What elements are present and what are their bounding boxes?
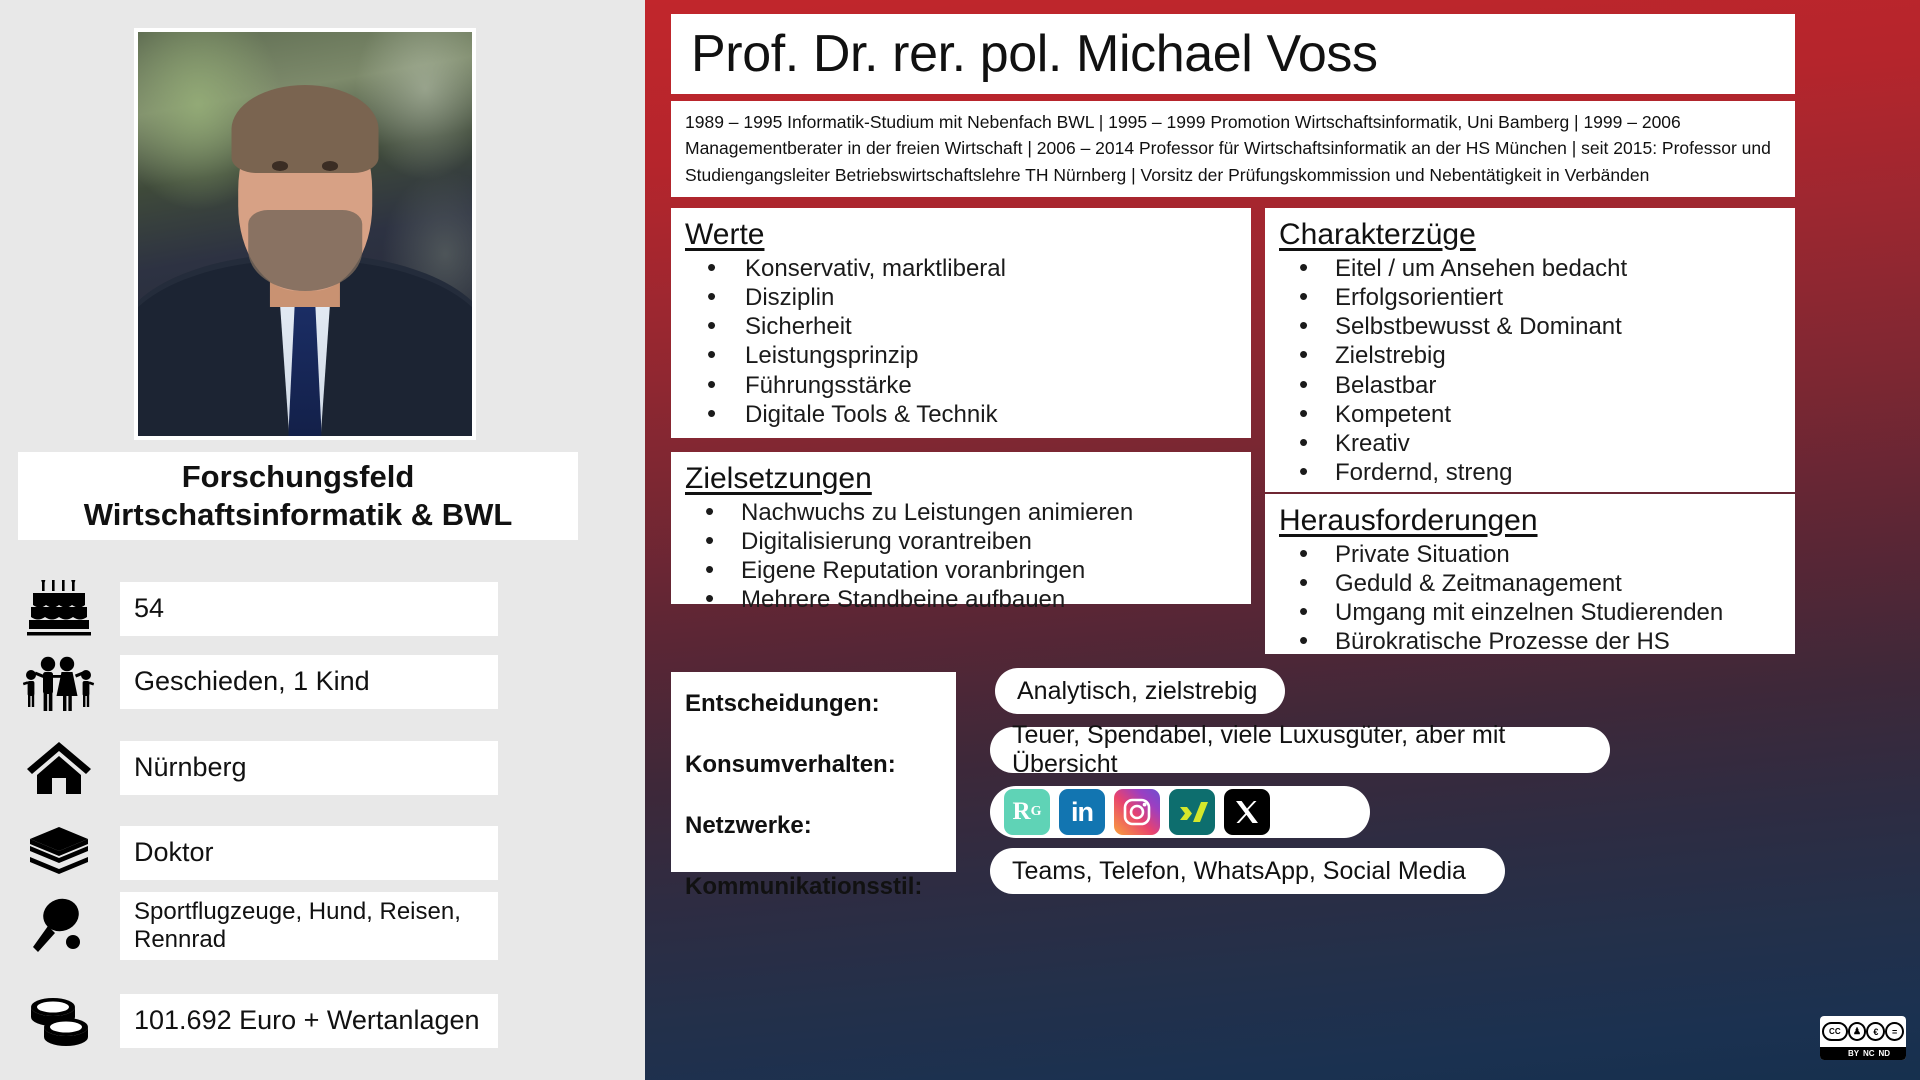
attribute-value-education: Doktor (120, 826, 498, 880)
attribute-value-income: 101.692 Euro + Wertanlagen (120, 994, 498, 1048)
list-item: Private Situation (1279, 540, 1795, 569)
section-werte: Werte Konservativ, marktliberal Diszipli… (671, 208, 1251, 438)
portrait-frame (134, 28, 476, 440)
list-item: Leistungsprinzip (685, 341, 1251, 370)
portrait-eye-left (272, 161, 289, 171)
attribute-row-residence: Nürnberg (18, 737, 498, 799)
portrait-photo (138, 32, 472, 436)
cc-license-symbols: CC ♟ € = (1820, 1016, 1906, 1047)
attribute-row-age: 54 (18, 578, 498, 640)
cc-nc-icon: € (1866, 1022, 1885, 1041)
instagram-icon[interactable] (1114, 789, 1160, 835)
portrait-hair (232, 85, 379, 174)
cc-nd-icon: = (1885, 1022, 1904, 1041)
books-icon (18, 822, 100, 884)
birthday-cake-icon (18, 578, 100, 640)
list-item: Zielstrebig (1279, 341, 1795, 370)
list-item: Digitalisierung vorantreiben (685, 527, 1251, 556)
werte-list: Konservativ, marktliberal Disziplin Sich… (685, 254, 1251, 429)
xing-icon[interactable] (1169, 789, 1215, 835)
list-item: Geduld & Zeitmanagement (1279, 569, 1795, 598)
value-entscheidungen: Analytisch, zielstrebig (995, 668, 1285, 714)
attribute-row-income: 101.692 Euro + Wertanlagen (18, 990, 498, 1052)
label-konsumverhalten: Konsumverhalten: (685, 751, 956, 779)
cc-by-icon: ♟ (1848, 1022, 1867, 1041)
list-item: Konservativ, marktliberal (685, 254, 1251, 283)
label-kommunikationsstil: Kommunikationsstil: (685, 873, 956, 901)
list-item: Fordernd, streng (1279, 458, 1795, 487)
zielsetzungen-list: Nachwuchs zu Leistungen animieren Digita… (685, 498, 1251, 615)
coins-icon (18, 990, 100, 1052)
list-item: Umgang mit einzelnen Studierenden (1279, 598, 1795, 627)
label-entscheidungen: Entscheidungen: (685, 690, 956, 718)
section-heading-werte: Werte (685, 218, 1251, 252)
left-info-panel: Forschungsfeld Wirtschaftsinformatik & B… (0, 0, 645, 1080)
attribute-row-education: Doktor (18, 822, 498, 884)
list-item: Sicherheit (685, 312, 1251, 341)
list-item: Disziplin (685, 283, 1251, 312)
attribute-row-family-status: Geschieden, 1 Kind (18, 651, 498, 713)
linkedin-icon[interactable]: in (1059, 789, 1105, 835)
section-heading-zielsetzungen: Zielsetzungen (685, 462, 1251, 496)
list-item: Kompetent (1279, 400, 1795, 429)
attribute-value-age: 54 (120, 582, 498, 636)
section-zielsetzungen: Zielsetzungen Nachwuchs zu Leistungen an… (671, 452, 1251, 604)
cc-license-text: BY NC ND (1820, 1047, 1906, 1060)
list-item: Digitale Tools & Technik (685, 400, 1251, 429)
section-heading-charakterzuege: Charakterzüge (1279, 218, 1795, 252)
list-item: Selbstbewusst & Dominant (1279, 312, 1795, 341)
biography-text: 1989 – 1995 Informatik-Studium mit Neben… (671, 101, 1795, 197)
house-icon (18, 737, 100, 799)
herausforderungen-list: Private Situation Geduld & Zeitmanagemen… (1279, 540, 1795, 657)
list-item: Belastbar (1279, 371, 1795, 400)
cc-mark-by: BY (1848, 1049, 1859, 1058)
cc-license-badge: CC ♟ € = BY NC ND (1820, 1016, 1906, 1060)
x-twitter-icon[interactable] (1224, 789, 1270, 835)
label-netzwerke: Netzwerke: (685, 812, 956, 840)
page-title: Prof. Dr. rer. pol. Michael Voss (671, 14, 1795, 94)
attribute-value-residence: Nürnberg (120, 741, 498, 795)
family-icon (18, 651, 100, 713)
value-kommunikationsstil: Teams, Telefon, WhatsApp, Social Media (990, 848, 1505, 894)
list-item: Führungsstärke (685, 371, 1251, 400)
researchgate-icon[interactable]: RG (1004, 789, 1050, 835)
attribute-row-hobbies: Sportflugzeuge, Hund, Reisen, Rennrad (18, 892, 498, 960)
research-field-label: Forschungsfeld (182, 458, 415, 496)
attribute-value-family-status: Geschieden, 1 Kind (120, 655, 498, 709)
behaviour-labels-card: Entscheidungen: Konsumverhalten: Netzwer… (671, 672, 956, 872)
social-networks-bar: RG in (990, 786, 1370, 838)
list-item: Bürokratische Prozesse der HS (1279, 627, 1795, 656)
portrait-beard (248, 210, 362, 291)
cc-mark-nd: ND (1878, 1049, 1890, 1058)
research-field-card: Forschungsfeld Wirtschaftsinformatik & B… (18, 452, 578, 540)
cc-mark-nc: NC (1863, 1049, 1875, 1058)
list-item: Eigene Reputation voranbringen (685, 556, 1251, 585)
section-herausforderungen: Herausforderungen Private Situation Gedu… (1265, 494, 1795, 654)
list-item: Kreativ (1279, 429, 1795, 458)
section-heading-herausforderungen: Herausforderungen (1279, 504, 1795, 538)
research-field-value: Wirtschaftsinformatik & BWL (84, 496, 513, 534)
cc-icon: CC (1822, 1022, 1848, 1041)
section-charakterzuege: Charakterzüge Eitel / um Ansehen bedacht… (1265, 208, 1795, 492)
attribute-value-hobbies: Sportflugzeuge, Hund, Reisen, Rennrad (120, 892, 498, 960)
right-content-panel: Prof. Dr. rer. pol. Michael Voss 1989 – … (645, 0, 1920, 1080)
table-tennis-icon (18, 895, 100, 957)
list-item: Mehrere Standbeine aufbauen (685, 585, 1251, 614)
list-item: Nachwuchs zu Leistungen animieren (685, 498, 1251, 527)
value-konsumverhalten: Teuer, Spendabel, viele Luxusgüter, aber… (990, 727, 1610, 773)
list-item: Eitel / um Ansehen bedacht (1279, 254, 1795, 283)
list-item: Erfolgsorientiert (1279, 283, 1795, 312)
charakterzuege-list: Eitel / um Ansehen bedacht Erfolgsorient… (1279, 254, 1795, 487)
